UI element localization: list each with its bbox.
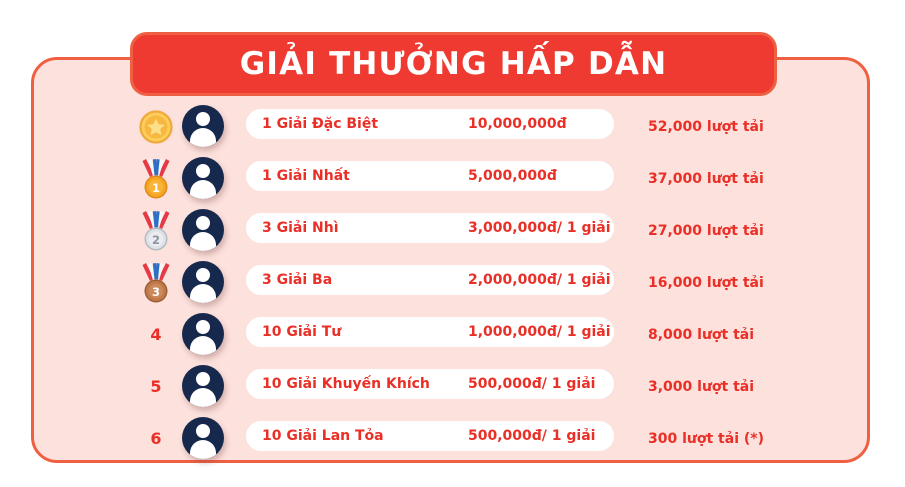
avatar-head — [196, 424, 210, 438]
avatar-head — [196, 164, 210, 178]
prize-label: 10 Giải Khuyến Khích — [262, 377, 430, 391]
gold-star-coin-icon — [137, 108, 175, 146]
prize-amount: 5,000,000đ — [468, 169, 557, 183]
avatar-head — [196, 268, 210, 282]
avatar-head — [196, 216, 210, 230]
prize-label: 3 Giải Nhì — [262, 221, 339, 235]
prize-pill: 10 Giải Lan Tỏa500,000đ/ 1 giải — [246, 421, 614, 451]
user-avatar-icon — [182, 417, 224, 459]
avatar-body — [190, 128, 216, 147]
user-avatar-icon — [182, 157, 224, 199]
avatar — [182, 313, 226, 357]
prize-pill: 3 Giải Nhì3,000,000đ/ 1 giải — [246, 213, 614, 243]
prize-amount: 500,000đ/ 1 giải — [468, 429, 595, 443]
avatar-body — [190, 388, 216, 407]
prize-amount: 1,000,000đ/ 1 giải — [468, 325, 611, 339]
user-avatar-icon — [182, 209, 224, 251]
svg-text:1: 1 — [152, 181, 160, 195]
downloads-count: 27,000 lượt tải — [648, 224, 764, 238]
prize-pill: 1 Giải Đặc Biệt10,000,000đ — [246, 109, 614, 139]
avatar — [182, 417, 226, 461]
prize-pill: 10 Giải Khuyến Khích500,000đ/ 1 giải — [246, 369, 614, 399]
downloads-count: 8,000 lượt tải — [648, 328, 754, 342]
rank-cell — [130, 101, 182, 153]
rank-number: 5 — [150, 379, 161, 395]
svg-text:3: 3 — [152, 285, 160, 299]
prize-row: 510 Giải Khuyến Khích500,000đ/ 1 giải3,0… — [0, 361, 905, 413]
rank-cell: 2 — [130, 205, 182, 257]
prize-label: 3 Giải Ba — [262, 273, 332, 287]
rank-cell: 6 — [130, 413, 182, 465]
avatar — [182, 261, 226, 305]
downloads-count: 300 lượt tải (*) — [648, 432, 764, 446]
prize-label: 1 Giải Đặc Biệt — [262, 117, 378, 131]
gold-medal-icon: 1 — [137, 157, 175, 201]
prize-row: 1 Giải Đặc Biệt10,000,000đ52,000 lượt tả… — [0, 101, 905, 153]
prize-row: 11 Giải Nhất5,000,000đ37,000 lượt tải — [0, 153, 905, 205]
avatar — [182, 157, 226, 201]
rank-cell: 1 — [130, 153, 182, 205]
downloads-count: 16,000 lượt tải — [648, 276, 764, 290]
downloads-count: 37,000 lượt tải — [648, 172, 764, 186]
user-avatar-icon — [182, 313, 224, 355]
rank-number: 4 — [150, 327, 161, 343]
prize-row: 23 Giải Nhì3,000,000đ/ 1 giải27,000 lượt… — [0, 205, 905, 257]
rank-cell: 5 — [130, 361, 182, 413]
svg-text:2: 2 — [152, 233, 160, 247]
silver-medal-icon: 2 — [137, 209, 175, 253]
avatar — [182, 209, 226, 253]
prize-row-list: 1 Giải Đặc Biệt10,000,000đ52,000 lượt tả… — [0, 101, 905, 465]
rank-cell: 4 — [130, 309, 182, 361]
prize-row: 610 Giải Lan Tỏa500,000đ/ 1 giải300 lượt… — [0, 413, 905, 465]
bronze-medal-icon: 3 — [137, 261, 175, 305]
rank-number: 6 — [150, 431, 161, 447]
downloads-count: 3,000 lượt tải — [648, 380, 754, 394]
avatar-head — [196, 372, 210, 386]
avatar-body — [190, 336, 216, 355]
avatar-body — [190, 284, 216, 303]
rank-cell: 3 — [130, 257, 182, 309]
downloads-count: 52,000 lượt tải — [648, 120, 764, 134]
prize-amount: 2,000,000đ/ 1 giải — [468, 273, 611, 287]
avatar-head — [196, 112, 210, 126]
prize-pill: 1 Giải Nhất5,000,000đ — [246, 161, 614, 191]
prize-pill: 10 Giải Tư1,000,000đ/ 1 giải — [246, 317, 614, 347]
page-title: GIẢI THƯỞNG HẤP DẪN — [240, 49, 667, 80]
prize-label: 1 Giải Nhất — [262, 169, 350, 183]
avatar-body — [190, 440, 216, 459]
avatar-body — [190, 180, 216, 199]
prize-row: 33 Giải Ba2,000,000đ/ 1 giải16,000 lượt … — [0, 257, 905, 309]
avatar-body — [190, 232, 216, 251]
prize-row: 410 Giải Tư1,000,000đ/ 1 giải8,000 lượt … — [0, 309, 905, 361]
avatar — [182, 105, 226, 149]
prize-label: 10 Giải Tư — [262, 325, 341, 339]
user-avatar-icon — [182, 105, 224, 147]
user-avatar-icon — [182, 261, 224, 303]
title-banner: GIẢI THƯỞNG HẤP DẪN — [130, 32, 777, 96]
avatar — [182, 365, 226, 409]
user-avatar-icon — [182, 365, 224, 407]
prize-amount: 3,000,000đ/ 1 giải — [468, 221, 611, 235]
prize-label: 10 Giải Lan Tỏa — [262, 429, 384, 443]
avatar-head — [196, 320, 210, 334]
prize-amount: 500,000đ/ 1 giải — [468, 377, 595, 391]
prize-table-infographic: GIẢI THƯỞNG HẤP DẪN 1 Giải Đặc Biệt10,00… — [0, 0, 905, 487]
prize-pill: 3 Giải Ba2,000,000đ/ 1 giải — [246, 265, 614, 295]
prize-amount: 10,000,000đ — [468, 117, 567, 131]
